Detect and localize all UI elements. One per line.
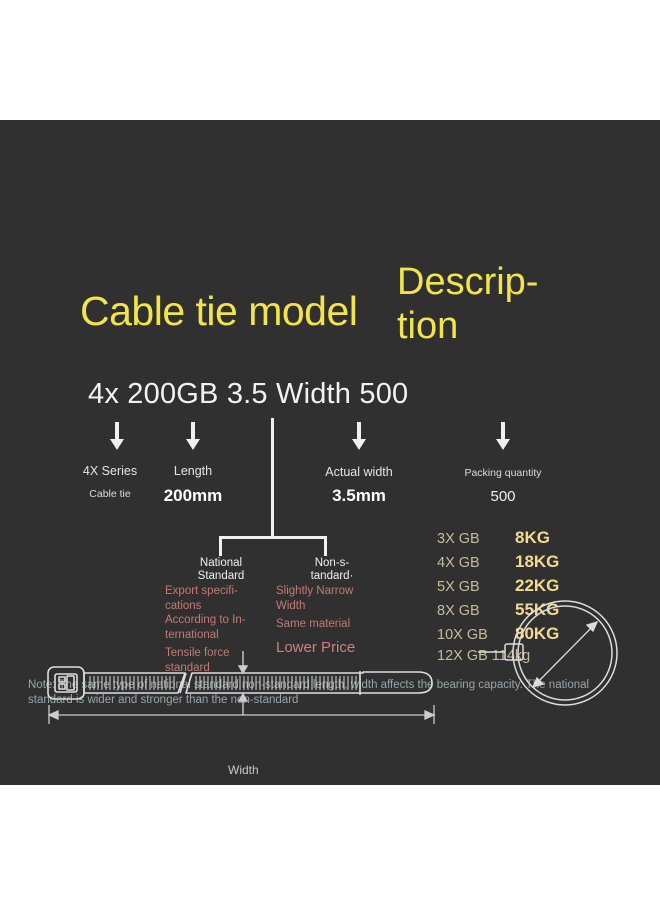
cable-tie-diagram	[0, 120, 660, 785]
width-dimension-label: Width	[228, 763, 259, 777]
product-info-panel: Cable tie model Descrip- tion 4x 200GB 3…	[0, 120, 660, 785]
